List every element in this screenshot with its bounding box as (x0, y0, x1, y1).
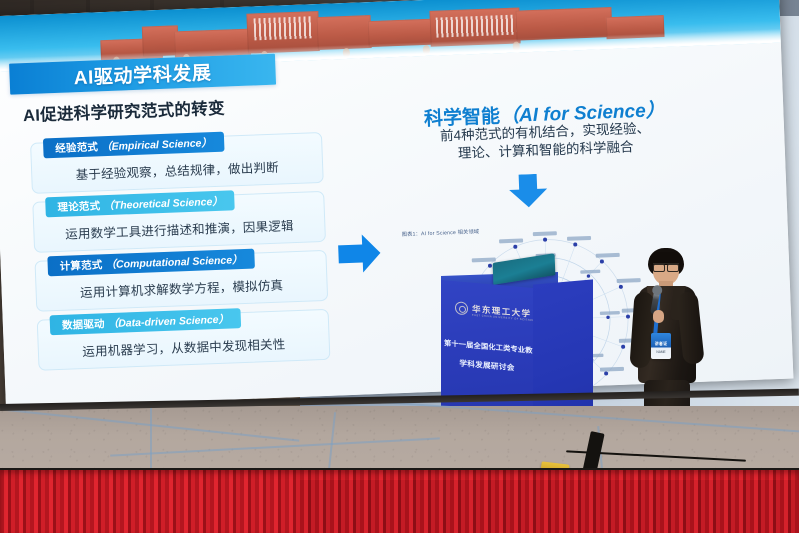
paradigm-head-cn: 理论范式 (57, 198, 100, 215)
paradigm-body-data-driven: 运用机器学习，从数据中发现相关性 (39, 332, 330, 362)
paradigm-card-data-driven: 数据驱动 （Data-driven Science） 运用机器学习，从数据中发现… (37, 309, 331, 371)
paradigm-head-cn: 数据驱动 (62, 316, 105, 333)
paradigm-body-empirical: 基于经验观察，总结规律，做出判断 (32, 155, 323, 185)
paradigm-head-en: （Theoretical Science） (103, 193, 223, 212)
paradigm-body-computational: 运用计算机求解数学方程，模拟仿真 (36, 273, 327, 303)
paradigm-body-theoretical: 运用数学工具进行描述和推演，因果逻辑 (34, 214, 325, 244)
conference-title-line2: 学科发展研讨会 (444, 356, 530, 375)
paradigm-card-empirical: 经验范式 （Empirical Science） 基于经验观察，总结规律，做出判… (30, 132, 324, 194)
conference-photo-scene: AI驱动学科发展 AI促进科学研究范式的转变 经验范式 （Empirical S… (0, 0, 799, 533)
paradigm-head-en: （Data-driven Science） (107, 311, 229, 331)
paradigm-head-cn: 计算范式 (59, 257, 102, 274)
stage-skirt-right (300, 480, 799, 533)
paradigm-head-en: （Computational Science） (105, 252, 243, 272)
right-arrow-icon (336, 230, 384, 278)
paradigm-card-computational: 计算范式 （Computational Science） 运用计算机求解数学方程… (34, 250, 328, 312)
paradigm-header-data-driven: 数据驱动 （Data-driven Science） (50, 308, 242, 335)
conference-title-line1: 第十一届全国化工类专业教学改 (444, 338, 530, 356)
badge-title: 讲者证 (651, 341, 671, 347)
university-logo-icon (455, 301, 468, 315)
paradigm-head-en: （Empirical Science） (101, 135, 212, 154)
paradigm-list: 经验范式 （Empirical Science） 基于经验观察，总结规律，做出判… (30, 132, 331, 379)
paradigm-header-computational: 计算范式 （Computational Science） (47, 249, 255, 277)
name-badge: 讲者证 NAME (651, 333, 671, 359)
down-arrow-icon (508, 174, 549, 209)
slide-title: AI驱动学科发展 (73, 58, 212, 90)
paradigm-header-theoretical: 理论范式 （Theoretical Science） (45, 190, 235, 217)
badge-name: NAME (651, 350, 671, 354)
paradigm-head-cn: 经验范式 (55, 139, 98, 156)
glasses-icon (653, 263, 679, 269)
paradigm-card-theoretical: 理论范式 （Theoretical Science） 运用数学工具进行描述和推演… (32, 191, 326, 253)
presenter-hand (653, 310, 664, 323)
